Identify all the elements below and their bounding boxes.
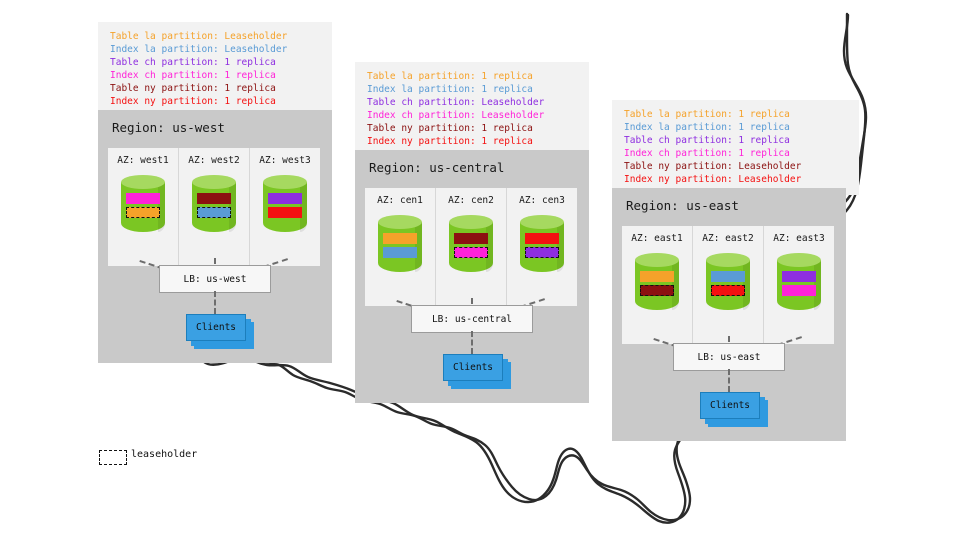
az-label: AZ: west2 <box>188 155 239 166</box>
replica-block <box>640 271 674 282</box>
clients-label: Clients <box>196 322 236 333</box>
config-line: Index la partition: Leaseholder <box>110 43 322 56</box>
az-label: AZ: east1 <box>631 233 682 244</box>
az-container-us-west: AZ: west1AZ: west2AZ: west3 <box>108 148 320 266</box>
database-cylinder-icon <box>706 253 750 317</box>
config-line: Index la partition: 1 replica <box>624 121 849 134</box>
edge-lb-clients <box>471 331 473 354</box>
az-column: AZ: west1 <box>108 148 179 266</box>
az-label: AZ: west3 <box>259 155 310 166</box>
database-cylinder-icon <box>121 175 165 239</box>
database-cylinder-icon <box>520 215 564 279</box>
replica-block <box>126 193 160 204</box>
dashed-rect-swatch-icon <box>99 450 127 465</box>
az-column: AZ: cen1 <box>365 188 436 306</box>
clients-stack-us-east[interactable]: Clients <box>700 392 766 425</box>
load-balancer-us-central[interactable]: LB: us-central <box>411 305 533 333</box>
replica-slots <box>268 193 302 221</box>
az-column: AZ: west2 <box>179 148 250 266</box>
replica-block <box>268 207 302 218</box>
cylinder-top <box>520 215 564 229</box>
lb-label: LB: us-central <box>432 314 512 325</box>
region-title: Region: us-central <box>369 160 504 175</box>
edge-lb-clients <box>728 369 730 392</box>
az-label: AZ: cen1 <box>377 195 423 206</box>
az-column: AZ: cen2 <box>436 188 507 306</box>
cylinder-top <box>777 253 821 267</box>
load-balancer-us-east[interactable]: LB: us-east <box>673 343 785 371</box>
config-line: Index ch partition: Leaseholder <box>367 109 579 122</box>
replica-slots <box>126 193 160 221</box>
lb-label: LB: us-west <box>184 274 247 285</box>
clients-front[interactable]: Clients <box>443 354 503 381</box>
az-label: AZ: cen2 <box>448 195 494 206</box>
config-line: Index ch partition: 1 replica <box>110 69 322 82</box>
replica-block-leaseholder <box>711 285 745 296</box>
az-column: AZ: east3 <box>764 226 834 344</box>
replica-block <box>711 271 745 282</box>
replica-block <box>383 233 417 244</box>
config-line: Index la partition: 1 replica <box>367 83 579 96</box>
replica-slots <box>197 193 231 221</box>
replica-block <box>268 193 302 204</box>
config-line: Table la partition: 1 replica <box>367 70 579 83</box>
az-container-us-east: AZ: east1AZ: east2AZ: east3 <box>622 226 834 344</box>
database-cylinder-icon <box>378 215 422 279</box>
config-line: Index ny partition: Leaseholder <box>624 173 849 186</box>
replica-block <box>525 233 559 244</box>
config-panel-us-east: Table la partition: 1 replicaIndex la pa… <box>612 100 859 195</box>
clients-front[interactable]: Clients <box>186 314 246 341</box>
config-line: Index ch partition: 1 replica <box>624 147 849 160</box>
diagram-canvas: Table la partition: LeaseholderIndex la … <box>0 0 960 540</box>
region-title: Region: us-west <box>112 120 225 135</box>
replica-block <box>197 193 231 204</box>
az-label: AZ: west1 <box>117 155 168 166</box>
replica-slots <box>640 271 674 299</box>
region-panel-us-east: Region: us-east AZ: east1AZ: east2AZ: ea… <box>612 188 846 441</box>
az-column: AZ: east1 <box>622 226 693 344</box>
clients-stack-us-central[interactable]: Clients <box>443 354 509 387</box>
config-line: Table ch partition: 1 replica <box>110 56 322 69</box>
cylinder-top <box>449 215 493 229</box>
replica-block <box>454 233 488 244</box>
replica-slots <box>454 233 488 261</box>
config-line: Table ny partition: Leaseholder <box>624 160 849 173</box>
replica-block-leaseholder <box>454 247 488 258</box>
replica-slots <box>782 271 816 299</box>
az-container-us-central: AZ: cen1AZ: cen2AZ: cen3 <box>365 188 577 306</box>
clients-label: Clients <box>710 400 750 411</box>
database-cylinder-icon <box>777 253 821 317</box>
database-cylinder-icon <box>449 215 493 279</box>
cylinder-top <box>635 253 679 267</box>
config-line: Table la partition: Leaseholder <box>110 30 322 43</box>
replica-slots <box>525 233 559 261</box>
replica-slots <box>711 271 745 299</box>
config-panel-us-central: Table la partition: 1 replicaIndex la pa… <box>355 62 589 157</box>
az-column: AZ: east2 <box>693 226 764 344</box>
replica-block-leaseholder <box>197 207 231 218</box>
az-column: AZ: cen3 <box>507 188 577 306</box>
config-panel-us-west: Table la partition: LeaseholderIndex la … <box>98 22 332 117</box>
region-panel-us-central: Region: us-central AZ: cen1AZ: cen2AZ: c… <box>355 150 589 403</box>
clients-front[interactable]: Clients <box>700 392 760 419</box>
az-label: AZ: east2 <box>702 233 753 244</box>
replica-block <box>782 271 816 282</box>
az-label: AZ: east3 <box>773 233 824 244</box>
replica-block <box>782 285 816 296</box>
config-line: Index ny partition: 1 replica <box>367 135 579 148</box>
replica-block <box>383 247 417 258</box>
leaseholder-legend-label: leaseholder <box>131 449 197 460</box>
cylinder-top <box>378 215 422 229</box>
database-cylinder-icon <box>635 253 679 317</box>
cylinder-top <box>192 175 236 189</box>
config-line: Table la partition: 1 replica <box>624 108 849 121</box>
config-line: Table ch partition: Leaseholder <box>367 96 579 109</box>
config-line: Table ch partition: 1 replica <box>624 134 849 147</box>
cylinder-top <box>121 175 165 189</box>
load-balancer-us-west[interactable]: LB: us-west <box>159 265 271 293</box>
clients-label: Clients <box>453 362 493 373</box>
az-label: AZ: cen3 <box>519 195 565 206</box>
lb-label: LB: us-east <box>698 352 761 363</box>
region-title: Region: us-east <box>626 198 739 213</box>
config-line: Table ny partition: 1 replica <box>367 122 579 135</box>
cylinder-top <box>263 175 307 189</box>
edge-lb-clients <box>214 291 216 314</box>
config-line: Index ny partition: 1 replica <box>110 95 322 108</box>
clients-stack-us-west[interactable]: Clients <box>186 314 252 347</box>
replica-slots <box>383 233 417 261</box>
database-cylinder-icon <box>192 175 236 239</box>
config-line: Table ny partition: 1 replica <box>110 82 322 95</box>
az-column: AZ: west3 <box>250 148 320 266</box>
replica-block-leaseholder <box>126 207 160 218</box>
replica-block-leaseholder <box>525 247 559 258</box>
region-panel-us-west: Region: us-west AZ: west1AZ: west2AZ: we… <box>98 110 332 363</box>
cylinder-top <box>706 253 750 267</box>
database-cylinder-icon <box>263 175 307 239</box>
replica-block-leaseholder <box>640 285 674 296</box>
